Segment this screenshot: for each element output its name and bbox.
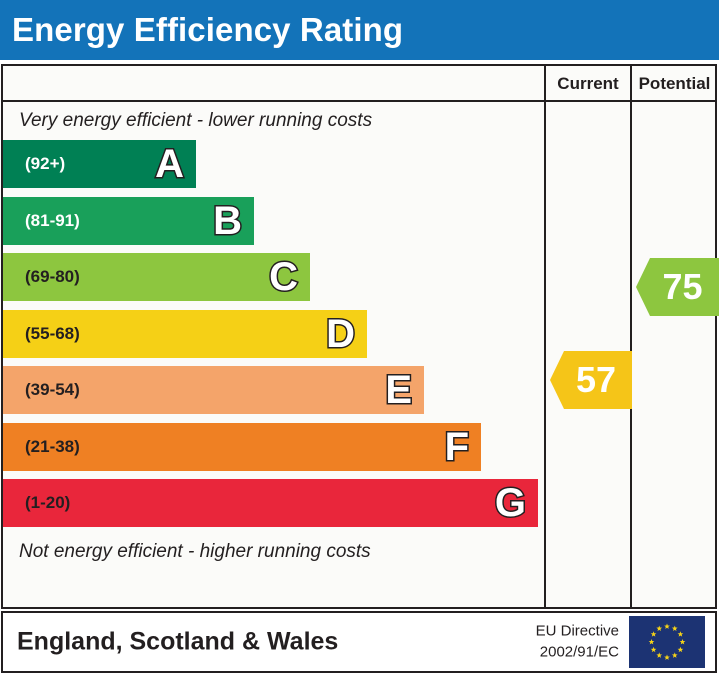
band-range-a: (92+) [25,154,65,174]
band-range-g: (1-20) [25,493,70,513]
band-list: (92+) A (81-91) B (69-80) C (55-68) D (3… [3,140,544,533]
band-row-g: (1-20) G [3,479,538,527]
band-row-f: (21-38) F [3,423,481,471]
band-letter-b: B [213,201,242,241]
band-range-f: (21-38) [25,437,80,457]
band-row-d: (55-68) D [3,310,367,358]
rating-table: Current Potential Very energy efficient … [1,64,717,609]
band-row-c: (69-80) C [3,253,310,301]
footer-directive: EU Directive 2002/91/EC [536,621,619,662]
potential-rating-marker: 75 [636,258,719,316]
caption-efficient: Very energy efficient - lower running co… [3,102,544,140]
band-row-b: (81-91) B [3,197,254,245]
directive-line-2: 2002/91/EC [536,642,619,663]
band-letter-a: A [155,144,184,184]
footer-region-label: England, Scotland & Wales [17,628,338,657]
column-header-current: Current [546,66,630,102]
energy-efficiency-certificate: Energy Efficiency Rating Current Potenti… [0,0,719,675]
eu-flag-icon [629,616,705,668]
column-header-potential: Potential [632,66,717,102]
column-divider-current [544,66,546,607]
directive-line-1: EU Directive [536,621,619,642]
potential-rating-value: 75 [636,258,719,316]
title-bar: Energy Efficiency Rating [0,0,719,60]
band-letter-e: E [385,370,412,410]
column-divider-potential [630,66,632,607]
current-rating-marker: 57 [550,351,632,409]
band-range-e: (39-54) [25,380,80,400]
caption-inefficient: Not energy efficient - higher running co… [3,533,544,571]
band-letter-f: F [445,427,469,467]
page-title: Energy Efficiency Rating [12,11,403,49]
band-range-c: (69-80) [25,267,80,287]
band-range-d: (55-68) [25,324,80,344]
band-row-e: (39-54) E [3,366,424,414]
band-letter-d: D [326,314,355,354]
band-letter-c: C [269,257,298,297]
band-range-b: (81-91) [25,211,80,231]
band-row-a: (92+) A [3,140,196,188]
footer-bar: England, Scotland & Wales EU Directive 2… [1,611,717,673]
current-rating-value: 57 [550,351,632,409]
band-letter-g: G [495,483,526,523]
